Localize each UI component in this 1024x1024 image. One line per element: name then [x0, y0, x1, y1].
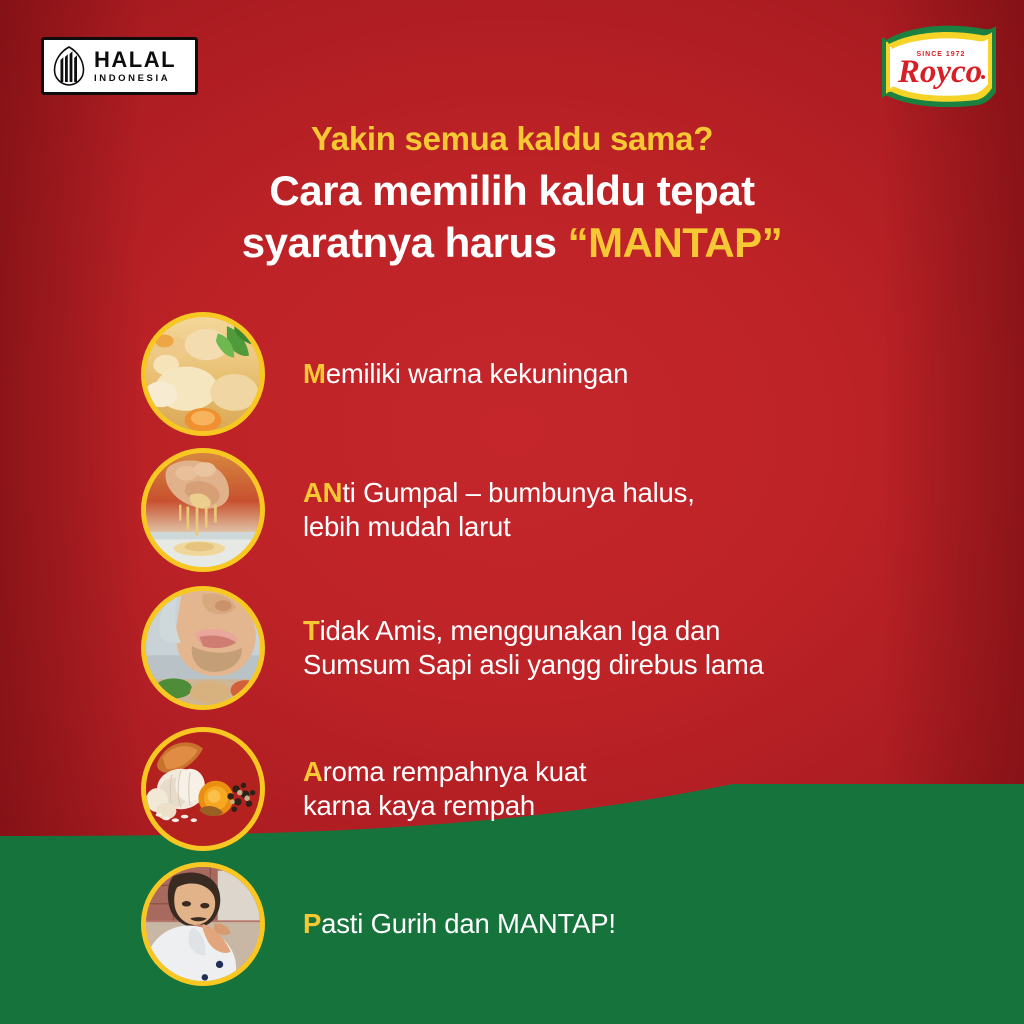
benefit-cap-4: A — [303, 756, 323, 787]
benefit-cap-2: AN — [303, 477, 342, 508]
spices-photo — [141, 727, 265, 851]
headline-line-1: Cara memilih kaldu tepat — [70, 165, 954, 218]
benefit-text-tidak-amis: Tidak Amis, menggunakan Iga dan Sumsum S… — [303, 614, 764, 682]
headline-mantap-highlight: “MANTAP” — [568, 219, 783, 266]
chef-smelling-food-photo — [141, 586, 265, 710]
headline-title: Cara memilih kaldu tepat syaratnya harus… — [70, 165, 954, 270]
royco-dot — [981, 75, 985, 79]
benefit-row-aroma: Aroma rempahnya kuat karna kaya rempah — [141, 727, 586, 851]
benefit-text-pasti-gurih: Pasti Gurih dan MANTAP! — [303, 907, 616, 941]
headline-kicker: Yakin semua kaldu sama? — [70, 120, 954, 158]
benefit-rest-1: emiliki warna kekuningan — [326, 358, 628, 389]
headline-block: Yakin semua kaldu sama? Cara memilih kal… — [0, 120, 1024, 270]
halal-label: HALAL — [94, 49, 176, 71]
benefit-row-anti-gumpal: ANti Gumpal – bumbunya halus, lebih muda… — [141, 448, 695, 572]
benefit-text-aroma: Aroma rempahnya kuat karna kaya rempah — [303, 755, 586, 823]
benefit-rest-5: asti Gurih dan MANTAP! — [321, 908, 616, 939]
hand-sprinkling-seasoning-photo — [141, 448, 265, 572]
benefit-text-anti-gumpal: ANti Gumpal – bumbunya halus, lebih muda… — [303, 476, 695, 544]
royco-logo: SINCE 1972 Royco — [880, 24, 1002, 108]
headline-line-2: syaratnya harus “MANTAP” — [70, 217, 954, 270]
benefit-cap-1: M — [303, 358, 326, 389]
halal-gunungan-icon — [50, 44, 88, 88]
halal-country-label: INDONESIA — [94, 74, 176, 84]
benefit-rest-3: idak Amis, menggunakan Iga dan Sumsum Sa… — [303, 615, 764, 680]
benefit-cap-5: P — [303, 908, 321, 939]
benefit-row-pasti-gurih: Pasti Gurih dan MANTAP! — [141, 862, 616, 986]
benefit-cap-3: T — [303, 615, 320, 646]
chef-tasting-food-photo — [141, 862, 265, 986]
soup-bowl-photo — [141, 312, 265, 436]
benefit-text-memiliki: Memiliki warna kekuningan — [303, 357, 628, 391]
benefit-rest-4: roma rempahnya kuat karna kaya rempah — [303, 756, 586, 821]
benefit-row-memiliki: Memiliki warna kekuningan — [141, 312, 628, 436]
benefit-row-tidak-amis: Tidak Amis, menggunakan Iga dan Sumsum S… — [141, 586, 764, 710]
halal-indonesia-badge: HALAL INDONESIA — [41, 37, 198, 95]
benefit-rest-2: ti Gumpal – bumbunya halus, lebih mudah … — [303, 477, 695, 542]
royco-mantap-poster: HALAL INDONESIA SINCE 1972 Royco Yakin s… — [0, 0, 1024, 1024]
royco-wordmark: Royco — [897, 54, 982, 90]
headline-line-2-prefix: syaratnya harus — [242, 219, 568, 266]
